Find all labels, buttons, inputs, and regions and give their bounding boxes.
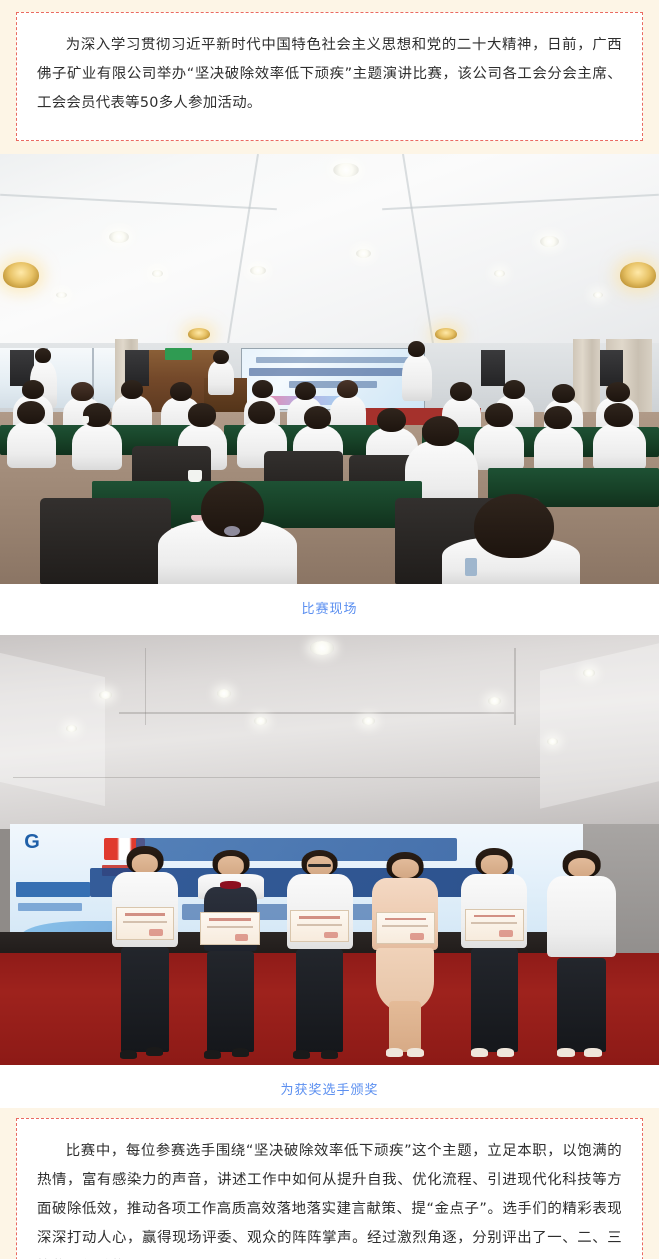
hair-scrunchie — [224, 526, 240, 536]
beibu-gulf-logo-icon: G — [24, 832, 40, 852]
ceiling-downlight — [254, 717, 267, 725]
ceiling-light-band — [0, 653, 105, 806]
award-winner-4 — [372, 852, 438, 1065]
attendee-head — [377, 408, 406, 432]
winner-shoe — [293, 1050, 310, 1059]
award-winner-2 — [198, 850, 264, 1065]
ceiling-downlight — [152, 270, 163, 277]
attendee-head — [17, 401, 45, 424]
seated-attendee — [534, 425, 583, 472]
certificate-seal — [410, 933, 424, 940]
ceiling-downlight — [356, 249, 371, 258]
certificate-title — [474, 915, 515, 918]
presenter-head — [213, 350, 229, 365]
audio-speaker-right — [481, 350, 505, 387]
certificate-line — [297, 924, 343, 926]
chandelier — [435, 328, 457, 340]
figure-competition-scene: 比赛现场 — [0, 154, 659, 635]
certificate-title — [125, 913, 165, 916]
award-certificate — [116, 907, 174, 940]
attendee-head — [503, 380, 525, 399]
attendee-head — [22, 380, 44, 399]
award-certificate — [465, 909, 524, 942]
attendee-head — [606, 382, 630, 402]
ceiling-recess — [145, 648, 147, 725]
award-winner-6 — [547, 850, 616, 1065]
photo-competition-scene — [0, 154, 659, 584]
ceiling-downlight — [217, 689, 231, 698]
award-certificate — [290, 910, 349, 942]
attendee-head — [604, 403, 633, 427]
certificate-line — [123, 921, 168, 923]
chandelier — [620, 262, 656, 288]
certificate-title — [299, 916, 340, 919]
award-winner-1 — [112, 846, 178, 1065]
winner-trousers — [296, 949, 343, 1052]
ceiling-downlight — [362, 717, 375, 725]
office-chair-foreground — [40, 498, 172, 584]
attendee-head — [121, 380, 143, 399]
intro-text-card: 为深入学习贯彻习近平新时代中国特色社会主义思想和党的二十大精神，日前，广西佛子矿… — [16, 12, 643, 141]
award-certificate — [376, 912, 435, 944]
ceiling-downlight — [333, 163, 359, 177]
winner-trousers — [121, 947, 168, 1052]
seated-attendee — [474, 423, 523, 470]
certificate-seal — [499, 930, 513, 937]
attendee-head — [450, 382, 472, 401]
standing-presenter — [208, 360, 234, 394]
winner-face — [481, 855, 507, 875]
closing-paragraph: 比赛中，每位参赛选手围绕“坚决破除效率低下顽疾”这个主题，立足本职，以饱满的热情… — [37, 1137, 622, 1259]
caption-award-ceremony: 为获奖选手颁奖 — [0, 1065, 659, 1108]
winner-shoe — [120, 1050, 137, 1059]
standing-attendee — [402, 354, 432, 401]
seated-attendee — [593, 423, 646, 470]
screen-title-line-2 — [249, 368, 417, 376]
attendee-head — [304, 406, 332, 429]
article-container: 为深入学习贯彻习近平新时代中国特色社会主义思想和党的二十大精神，日前，广西佛子矿… — [0, 12, 659, 1259]
exit-sign-icon — [165, 348, 193, 359]
winner-trousers — [471, 948, 518, 1052]
tea-cup — [188, 470, 202, 482]
caption-competition-scene: 比赛现场 — [0, 584, 659, 635]
attendee-head — [252, 380, 273, 398]
ceiling-recess — [119, 712, 514, 714]
winner-shoe — [204, 1050, 221, 1059]
screen-title-line-1 — [256, 357, 409, 363]
winner-shoe — [584, 1048, 602, 1057]
attendee-head — [170, 382, 192, 401]
winner-shoe — [407, 1048, 424, 1057]
intro-paragraph: 为深入学习贯彻习近平新时代中国特色社会主义思想和党的二十大精神，日前，广西佛子矿… — [37, 31, 622, 118]
winner-shoe — [557, 1048, 575, 1057]
eyeglasses-icon — [308, 864, 332, 867]
certificate-seal — [324, 932, 338, 939]
winner-shoe — [146, 1047, 163, 1056]
bow-tie-icon — [220, 881, 241, 889]
award-certificate — [200, 912, 259, 944]
certificate-seal — [235, 934, 249, 941]
attendee-head — [485, 403, 513, 426]
attendee-head — [188, 403, 216, 426]
seated-attendee — [72, 423, 121, 470]
ceiling — [0, 154, 659, 356]
ceiling-recess — [514, 648, 516, 725]
winner-shoe — [232, 1048, 249, 1057]
certificate-title — [209, 918, 250, 921]
figure-award-ceremony: G — [0, 635, 659, 1108]
winner-face — [392, 859, 418, 878]
certificate-line — [207, 926, 253, 928]
ceiling-downlight — [250, 266, 266, 275]
chandelier — [188, 328, 210, 340]
winner-trousers — [207, 951, 254, 1052]
foreground-attendee-head — [474, 494, 553, 559]
attendee-head — [35, 348, 51, 363]
winner-shoe — [471, 1048, 488, 1057]
winner-trousers — [557, 958, 607, 1053]
attendee-head — [337, 380, 358, 398]
ceiling-light-band — [540, 643, 659, 808]
winner-blouse — [547, 876, 616, 958]
ceiling-downlight — [99, 691, 112, 699]
certificate-title — [385, 918, 426, 921]
audio-speaker-far-right — [600, 350, 624, 387]
photo-award-ceremony: G — [0, 635, 659, 1065]
ceiling-recess — [13, 777, 540, 779]
winner-face — [217, 856, 243, 875]
certificate-seal — [149, 929, 162, 936]
certificate-line — [471, 922, 517, 924]
award-winner-3 — [287, 850, 353, 1065]
winner-shoe — [321, 1050, 338, 1059]
attendee-head — [544, 406, 572, 429]
ceiling-downlight — [56, 292, 67, 298]
mobile-phone — [465, 558, 477, 576]
ceiling-downlight — [593, 292, 603, 298]
winner-shoe — [497, 1048, 514, 1057]
attendee-head — [408, 341, 425, 356]
attendee-head — [71, 382, 93, 401]
beibu-gulf-logo-subline — [18, 903, 81, 911]
award-winner-5 — [461, 848, 527, 1065]
closing-text-card: 比赛中，每位参赛选手围绕“坚决破除效率低下顽疾”这个主题，立足本职，以饱满的热情… — [16, 1118, 643, 1259]
attendee-head — [552, 384, 574, 403]
attendee-head — [422, 416, 459, 446]
seated-attendee — [7, 421, 56, 468]
winner-shoe — [386, 1048, 403, 1057]
beibu-gulf-logo-wordmark — [16, 882, 91, 897]
certificate-line — [382, 925, 428, 927]
winner-legs — [389, 1001, 421, 1052]
attendee-head — [248, 401, 276, 424]
winner-face — [568, 858, 596, 877]
chandelier — [3, 262, 39, 288]
attendee-head — [295, 382, 316, 400]
ceiling-downlight — [540, 236, 559, 247]
